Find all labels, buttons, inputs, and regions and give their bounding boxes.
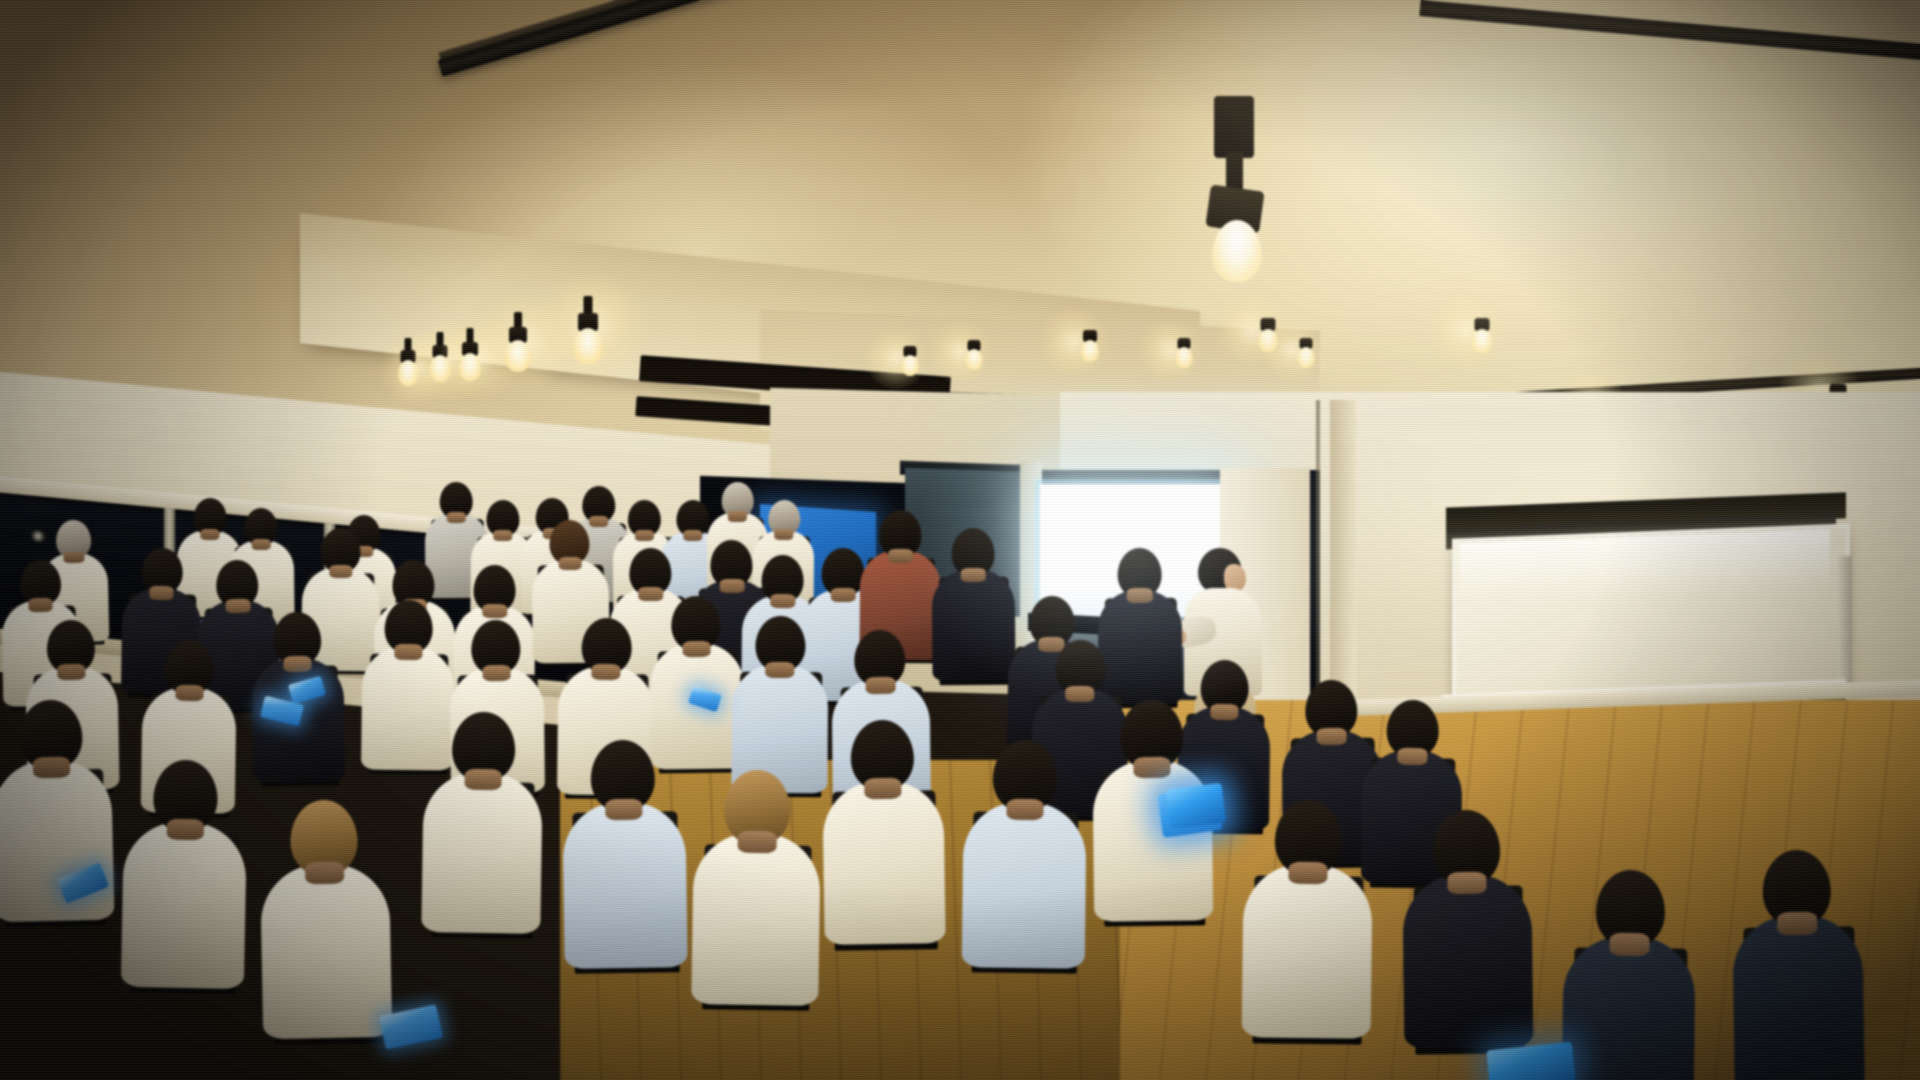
audience-person-neck [888,549,913,563]
audience-person-torso [120,820,246,988]
audience-person-neck [1397,747,1427,765]
audience-person [118,759,251,989]
audience-person-neck [830,587,855,602]
audience-person-neck [1127,588,1153,603]
audience-person-neck [864,778,901,800]
audience-person [1728,849,1868,1080]
audience-person-torso [1092,759,1213,922]
audience-person-neck [1006,799,1044,821]
audience-person-neck [465,769,502,790]
audience-person [256,799,395,1040]
audience-person-torso [1561,935,1696,1080]
audience-person-neck [225,599,250,613]
audience-person-neck [166,819,204,841]
audience-person-neck [1316,727,1346,745]
audience-person-torso [562,801,688,969]
audience-person-neck [605,799,643,821]
audience-person-torso [691,833,821,1006]
audience-person-torso [1241,864,1372,1039]
audience-person-neck [592,664,621,681]
audience-person-neck [447,512,466,523]
audience-person-neck [766,662,795,679]
audience-person-torso [932,569,1016,681]
audience-person-neck [251,539,271,550]
audience-person-neck [57,664,85,681]
audience-person-neck [482,665,511,682]
seminar-room-photo [0,0,1920,1080]
audience-person-neck [283,656,311,672]
audience-person-neck [558,557,582,571]
audience-person-torso [822,780,946,946]
audience-person-neck [1447,871,1486,894]
audience-person-neck [682,641,711,658]
audience-person-neck [770,594,795,608]
audience-person-neck [394,644,422,660]
audience-person [1559,869,1700,1080]
audience-person-neck [493,530,512,541]
audience-person [688,769,824,1006]
audience-person-neck [866,676,896,693]
audience [0,0,1920,1080]
audience-person-torso [0,758,115,922]
audience-person [959,739,1090,968]
audience-person-neck [304,861,344,884]
audience-person [1399,809,1536,1049]
audience-person-torso [260,863,392,1039]
audience-person-neck [329,565,353,579]
audience-person [729,616,830,794]
audience-person-neck [482,604,507,618]
audience-person-neck [200,529,220,540]
audience-person-torso [421,771,543,934]
audience-person-neck [1609,933,1650,956]
audience-person-neck [150,586,174,600]
audience-person-neck [775,529,794,540]
audience-person-neck [1288,861,1327,884]
audience-person-neck [175,685,204,702]
audience-person [929,528,1017,682]
audience-person-torso [1402,874,1533,1049]
audience-person [418,711,546,934]
audience-person [558,739,690,969]
audience-person-neck [29,598,53,612]
audience-person-neck [728,511,747,522]
audience-person-neck [737,830,776,853]
audience-person-neck [683,530,702,541]
laptop-screen [1166,783,1226,830]
audience-person-neck [635,530,654,541]
audience-person-neck [960,567,985,582]
audience-person-neck [33,757,70,779]
audience-person-torso [1732,914,1865,1080]
audience-person [818,719,948,945]
audience-person-neck [1777,912,1817,935]
audience-person-torso [961,801,1086,969]
audience-person-neck [1134,757,1171,778]
audience-person [1239,799,1376,1039]
audience-person-neck [1210,704,1238,720]
